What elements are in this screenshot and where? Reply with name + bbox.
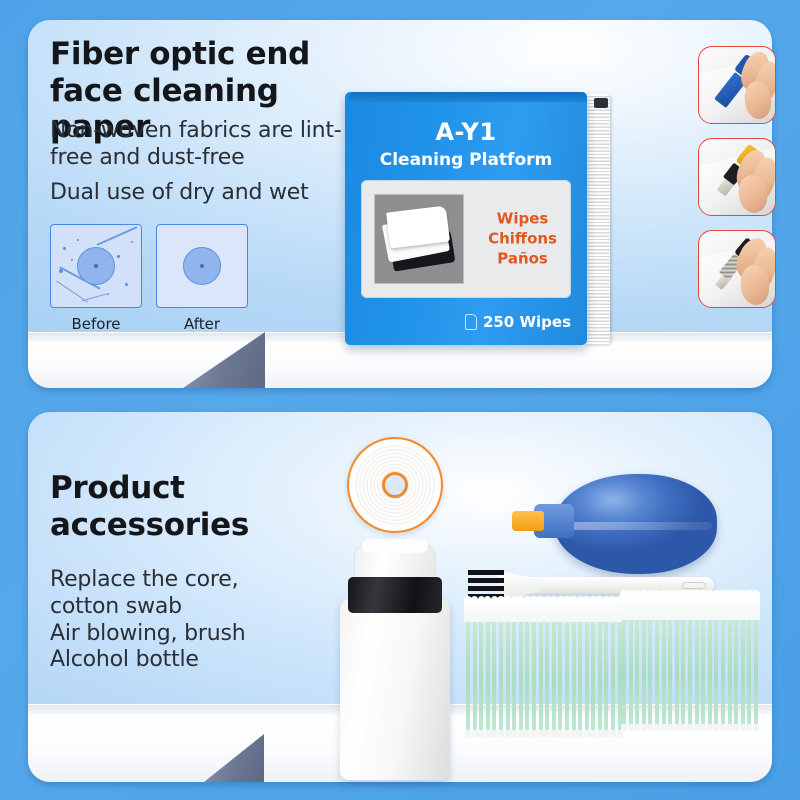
swab-foot — [564, 730, 570, 737]
language-wipes: Wipes — [488, 209, 557, 229]
cotton-swab — [578, 618, 582, 730]
swab-stick — [747, 616, 751, 724]
cotton-swab — [512, 618, 516, 730]
swab-foot — [571, 730, 577, 737]
air-blower-bulb — [512, 470, 717, 578]
swab-foot — [680, 724, 686, 731]
cotton-swab — [668, 616, 672, 724]
swab-stick — [754, 616, 758, 724]
bottle-body — [340, 598, 450, 780]
swab-stick — [728, 616, 732, 724]
accessory-text-line-1: Replace the core, — [50, 567, 340, 594]
cotton-swab — [681, 616, 685, 724]
swab-foot — [472, 730, 478, 737]
swab-stick — [486, 618, 490, 730]
swab-stick — [519, 618, 523, 730]
wipe-sheet-icon — [465, 314, 477, 330]
accessory-text-line-3: Air blowing, brush — [50, 621, 340, 648]
swab-stick — [629, 616, 633, 724]
blower-seam — [560, 522, 712, 530]
fiber-ferrule-circle — [183, 247, 221, 285]
swab-stick — [721, 616, 725, 724]
swab-stick — [642, 616, 646, 724]
cotton-swab — [479, 618, 483, 730]
swab-stick — [741, 616, 745, 724]
alcohol-pump-bottle — [340, 545, 450, 780]
cotton-swab — [611, 618, 615, 730]
product-box: A-Y1 Cleaning Platform Wipes Chiffons Pa… — [345, 86, 610, 348]
product-box-count-label: 250 Wipes — [483, 313, 571, 331]
cotton-swab — [572, 618, 576, 730]
swab-foot — [674, 724, 680, 731]
language-chiffons: Chiffons — [488, 229, 557, 249]
yellow-connector-wiping-photo — [698, 138, 776, 216]
cotton-swab — [622, 616, 626, 724]
cotton-swab — [499, 618, 503, 730]
cotton-swab — [629, 616, 633, 724]
swab-foot — [628, 724, 634, 731]
swab-stick — [539, 618, 543, 730]
product-box-label: Wipes Chiffons Paños — [361, 180, 571, 298]
product-box-count-badge: 250 Wipes — [465, 313, 571, 331]
swab-stick — [662, 616, 666, 724]
accessory-text-line-2: cotton swab — [50, 594, 340, 621]
swab-stick — [552, 618, 556, 730]
cotton-swab — [754, 616, 758, 724]
product-box-subtitle: Cleaning Platform — [345, 150, 587, 170]
swab-foot — [694, 724, 700, 731]
swab-foot — [634, 724, 640, 731]
top-panel-subtitle-1: Non-woven fabrics are lint-free and dust… — [50, 118, 350, 172]
swab-foot — [713, 724, 719, 731]
swab-stick — [635, 616, 639, 724]
swab-foot — [584, 730, 590, 737]
cotton-swab — [662, 616, 666, 724]
cotton-swab — [675, 616, 679, 724]
swab-foot — [544, 730, 550, 737]
bottle-collar — [348, 577, 442, 613]
comparison-item-before: Before — [50, 224, 142, 333]
swab-stick — [734, 616, 738, 724]
wipes-sheets-photo — [374, 194, 464, 284]
swab-stick — [506, 618, 510, 730]
cotton-swab — [558, 618, 562, 730]
swab-stick — [558, 618, 562, 730]
swab-foot — [707, 724, 713, 731]
swab-stick — [499, 618, 503, 730]
product-box-front: A-Y1 Cleaning Platform Wipes Chiffons Pa… — [345, 92, 587, 345]
swab-foot — [720, 724, 726, 731]
swab-foot — [498, 730, 504, 737]
fiber-ferrule-circle — [77, 247, 115, 285]
bottom-panel-item-list: Replace the core, cotton swab Air blowin… — [50, 567, 340, 674]
replacement-core-reel — [347, 437, 443, 533]
swab-foot — [641, 724, 647, 731]
cotton-swab — [585, 618, 589, 730]
swab-stick — [611, 618, 615, 730]
swab-stick — [675, 616, 679, 724]
cotton-swab — [532, 618, 536, 730]
cotton-swab — [506, 618, 510, 730]
bottom-panel-headline: Product accessories — [50, 470, 320, 543]
swab-stick — [604, 618, 608, 730]
usage-photo-list — [698, 46, 776, 322]
cotton-swab — [655, 616, 659, 724]
swab-foot — [753, 724, 759, 731]
swab-foot — [505, 730, 511, 737]
swab-stick — [572, 618, 576, 730]
cotton-swab — [466, 618, 470, 730]
swab-foot — [577, 730, 583, 737]
cotton-swab — [598, 618, 602, 730]
swab-foot — [700, 724, 706, 731]
swab-stick — [598, 618, 602, 730]
cotton-swab — [721, 616, 725, 724]
cotton-swab — [492, 618, 496, 730]
cotton-swab — [741, 616, 745, 724]
wipes-stack-cap — [594, 98, 608, 108]
cotton-swab — [714, 616, 718, 724]
swab-foot — [617, 730, 623, 737]
swab-foot — [654, 724, 660, 731]
swab-foot — [597, 730, 603, 737]
swab-foot — [518, 730, 524, 737]
cotton-swab — [473, 618, 477, 730]
cotton-swab — [525, 618, 529, 730]
swab-foot — [491, 730, 497, 737]
swab-foot — [746, 724, 752, 731]
cotton-swab — [708, 616, 712, 724]
cotton-swab — [545, 618, 549, 730]
swab-foot — [485, 730, 491, 737]
swab-stick — [473, 618, 477, 730]
brush-hang-hole — [682, 582, 706, 589]
white-sheet-upper — [386, 205, 450, 248]
comparison-label-before: Before — [50, 315, 142, 333]
swab-stick — [532, 618, 536, 730]
swab-foot — [603, 730, 609, 737]
swab-stick — [585, 618, 589, 730]
cotton-swab — [695, 616, 699, 724]
swab-stick — [668, 616, 672, 724]
swab-foot — [478, 730, 484, 737]
cotton-swab — [734, 616, 738, 724]
swab-foot — [465, 730, 471, 737]
cotton-swab — [747, 616, 751, 724]
accessory-text-line-4: Alcohol bottle — [50, 647, 340, 674]
cotton-swab — [591, 618, 595, 730]
swab-stick — [622, 616, 626, 724]
cotton-swab — [688, 616, 692, 724]
swab-foot — [538, 730, 544, 737]
swab-stick — [714, 616, 718, 724]
cotton-swabs-long — [622, 616, 760, 724]
swab-stick — [479, 618, 483, 730]
swab-stick — [655, 616, 659, 724]
swab-foot — [647, 724, 653, 731]
swab-foot — [524, 730, 530, 737]
swab-stick — [545, 618, 549, 730]
before-after-comparison: Before After — [50, 224, 248, 333]
bottle-pump-top — [362, 539, 428, 553]
swab-stick — [701, 616, 705, 724]
swab-stick — [681, 616, 685, 724]
comparison-label-after: After — [156, 315, 248, 333]
cotton-swab — [728, 616, 732, 724]
swab-foot — [590, 730, 596, 737]
cotton-swab — [642, 616, 646, 724]
cotton-swab — [701, 616, 705, 724]
swab-tip — [751, 590, 760, 620]
wipes-stack-edge — [584, 94, 610, 344]
swab-foot — [733, 724, 739, 731]
fiber-endface-before-image — [50, 224, 142, 308]
fiber-endface-after-image — [156, 224, 248, 308]
swab-foot — [621, 724, 627, 731]
cotton-swabs-short — [466, 618, 624, 730]
swab-stick — [688, 616, 692, 724]
swab-stick — [591, 618, 595, 730]
swab-stick — [492, 618, 496, 730]
swab-foot — [740, 724, 746, 731]
blue-connector-wiping-photo — [698, 46, 776, 124]
cotton-swab — [539, 618, 543, 730]
swab-stick — [466, 618, 470, 730]
swab-foot — [557, 730, 563, 737]
comparison-item-after: After — [156, 224, 248, 333]
swab-foot — [727, 724, 733, 731]
cotton-swab — [635, 616, 639, 724]
swab-foot — [687, 724, 693, 731]
swab-stick — [565, 618, 569, 730]
swab-foot — [551, 730, 557, 737]
cotton-swab — [486, 618, 490, 730]
product-box-language-list: Wipes Chiffons Paños — [488, 209, 557, 268]
product-box-top-edge — [349, 92, 587, 102]
swab-foot — [511, 730, 517, 737]
language-panos: Paños — [488, 249, 557, 269]
swab-foot — [610, 730, 616, 737]
cotton-swab — [648, 616, 652, 724]
swab-stick — [578, 618, 582, 730]
swab-stick — [708, 616, 712, 724]
swab-foot — [661, 724, 667, 731]
swab-foot — [667, 724, 673, 731]
swab-foot — [531, 730, 537, 737]
product-box-title: A-Y1 — [345, 118, 587, 146]
cotton-swab — [519, 618, 523, 730]
cotton-swab — [604, 618, 608, 730]
ferrule-wiping-photo — [698, 230, 776, 308]
table-corner-shadow — [204, 734, 264, 782]
swab-stick — [648, 616, 652, 724]
top-panel-subtitle-2: Dual use of dry and wet — [50, 180, 360, 207]
cotton-swab — [552, 618, 556, 730]
swab-stick — [512, 618, 516, 730]
swab-stick — [525, 618, 529, 730]
cotton-swab — [565, 618, 569, 730]
swab-stick — [695, 616, 699, 724]
blower-nozzle — [512, 511, 544, 531]
reel-hub — [382, 472, 408, 498]
